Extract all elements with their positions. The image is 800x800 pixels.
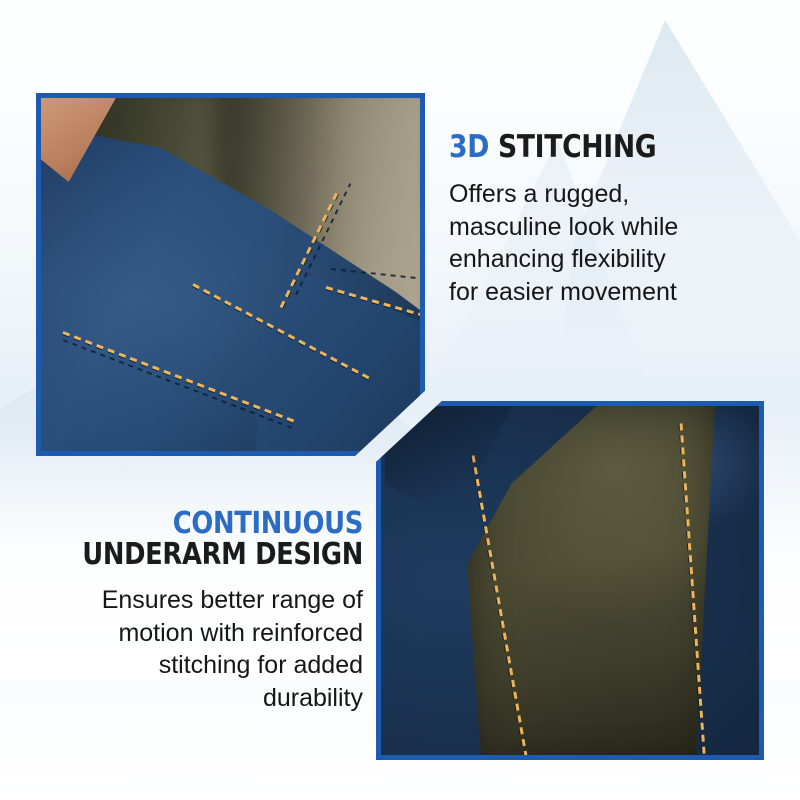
body-line: for easier movement <box>449 276 783 309</box>
feature-text-stitching: 3D STITCHING Offers a rugged, masculine … <box>449 131 783 308</box>
body-line: durability <box>18 682 363 715</box>
body-line: Ensures better range of <box>18 584 363 617</box>
body-line: masculine look while <box>449 211 783 244</box>
body-line: stitching for added <box>18 649 363 682</box>
headline-rest-word: STITCHING <box>498 129 656 165</box>
shoulder-raglan-stitching-photo <box>36 93 425 456</box>
photo-inner <box>41 98 420 451</box>
body-line: Offers a rugged, <box>449 178 783 211</box>
underarm-gusset-photo <box>376 401 764 760</box>
feature-body-underarm: Ensures better range of motion with rein… <box>18 584 363 714</box>
photo-inner <box>381 406 759 755</box>
feature-body-stitching: Offers a rugged, masculine look while en… <box>449 178 783 308</box>
infographic-canvas: 3D STITCHING Offers a rugged, masculine … <box>0 0 800 800</box>
feature-headline-stitching: 3D STITCHING <box>449 131 736 163</box>
headline-rest-word: UNDERARM DESIGN <box>66 539 363 570</box>
body-line: motion with reinforced <box>18 617 363 650</box>
feature-headline-underarm: CONTINUOUS UNDERARM DESIGN <box>66 508 363 570</box>
body-line: enhancing flexibility <box>449 243 783 276</box>
feature-text-underarm: CONTINUOUS UNDERARM DESIGN Ensures bette… <box>18 508 363 714</box>
headline-accent-word: 3D <box>449 129 489 165</box>
headline-accent-word: CONTINUOUS <box>173 506 363 541</box>
